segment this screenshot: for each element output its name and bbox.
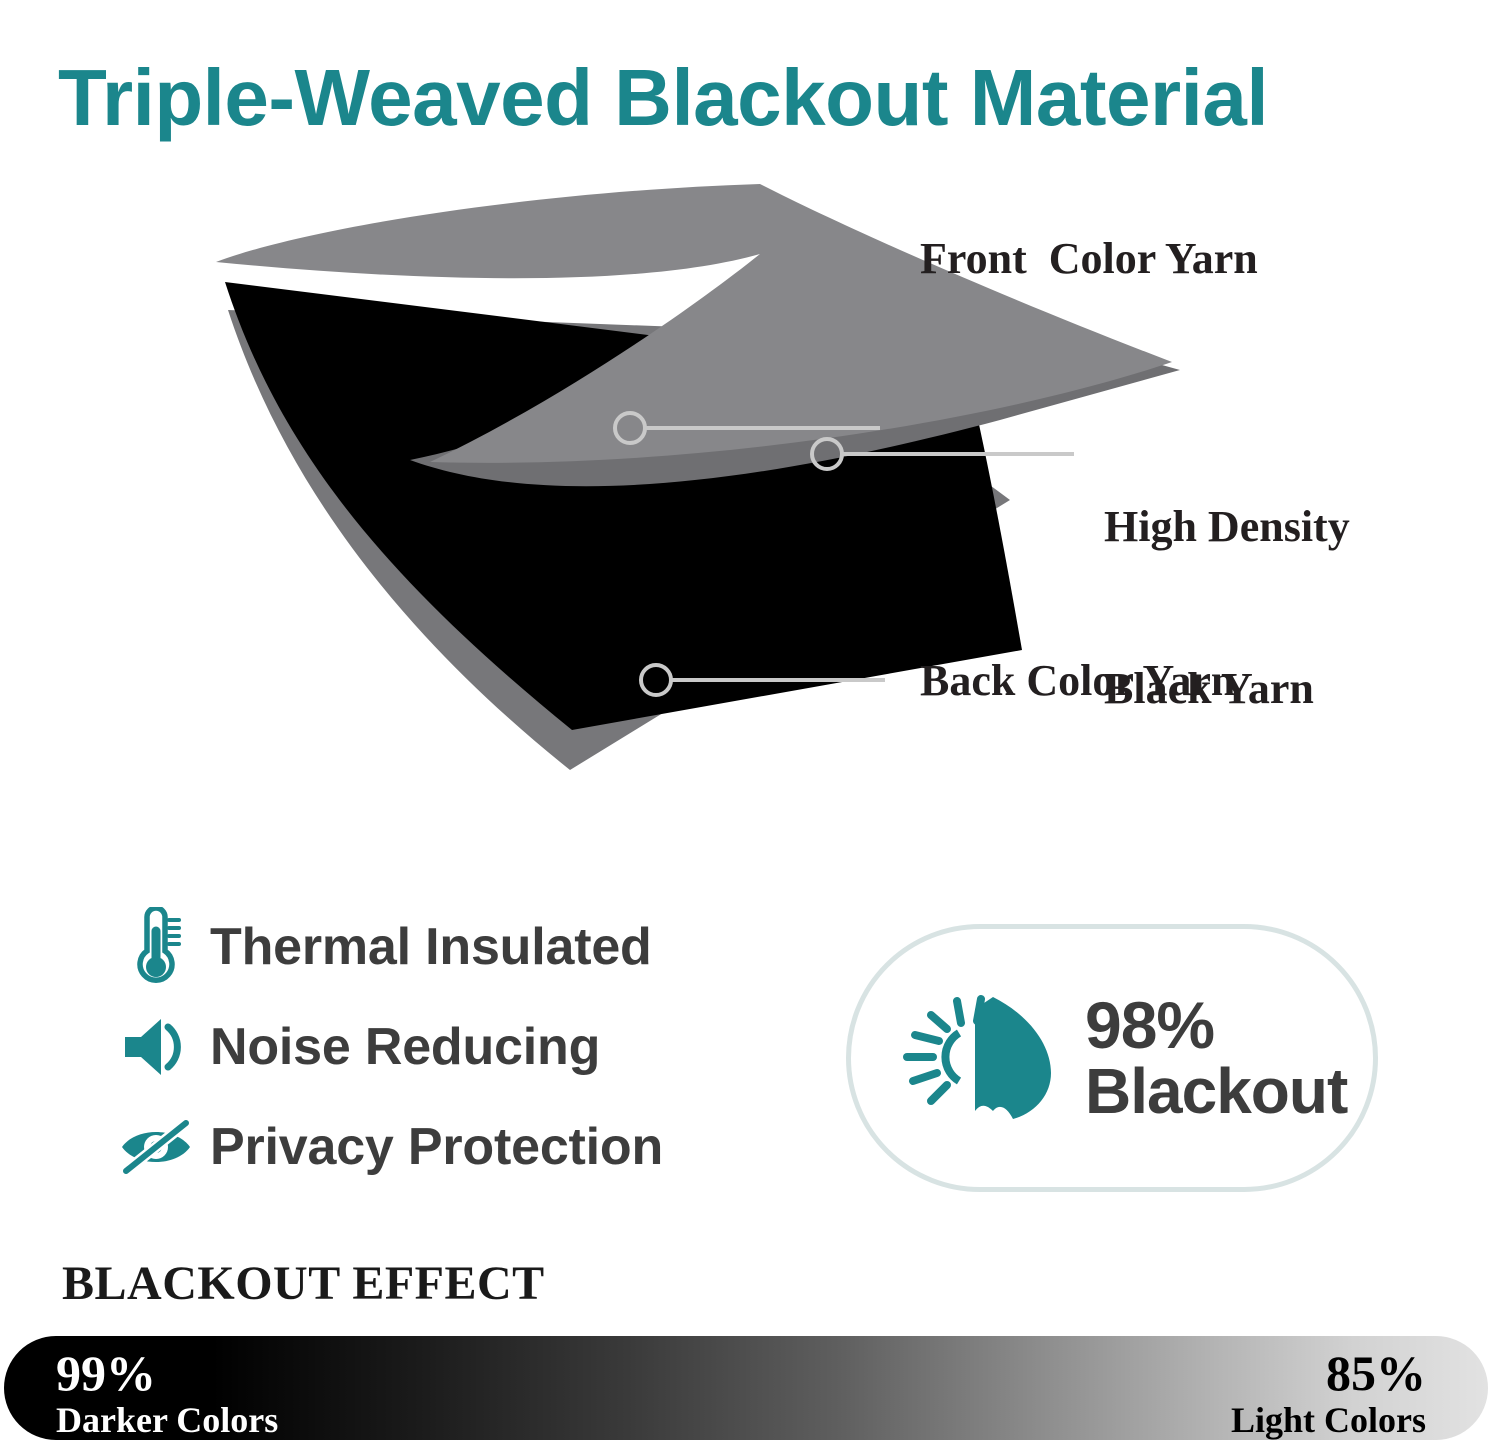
page-title: Triple-Weaved Blackout Material — [58, 50, 1478, 146]
feature-label-privacy-protection: Privacy Protection — [210, 1118, 663, 1176]
bar-description-darker: Darker Colors — [56, 1402, 278, 1438]
badge-text: 98% Blackout — [1085, 992, 1347, 1125]
eye-slash-icon — [112, 1105, 200, 1189]
feature-item-thermal-insulated: Thermal Insulated — [112, 902, 812, 992]
bar-percent-darker: 99% — [56, 1348, 278, 1398]
blackout-effect-gradient-bar: 99% Darker Colors 85% Light Colors — [4, 1336, 1488, 1440]
thermometer-icon — [112, 905, 200, 989]
bar-percent-light: 85% — [1231, 1348, 1426, 1398]
feature-label-noise-reducing: Noise Reducing — [210, 1018, 600, 1076]
sun-blocked-icon — [895, 978, 1075, 1138]
badge-word: Blackout — [1085, 1059, 1347, 1124]
label-high-density-black-yarn: High Density Black Yarn — [1104, 392, 1350, 770]
blackout-effect-heading: BLACKOUT EFFECT — [62, 1256, 545, 1312]
blackout-percentage-badge: 98% Blackout — [846, 924, 1378, 1192]
label-front-color-yarn: Front Color Yarn — [920, 232, 1258, 286]
bar-stat-light-colors: 85% Light Colors — [1231, 1348, 1426, 1438]
speaker-icon — [112, 1005, 200, 1089]
feature-item-privacy-protection: Privacy Protection — [112, 1102, 812, 1192]
bar-description-light: Light Colors — [1231, 1402, 1426, 1438]
feature-label-thermal-insulated: Thermal Insulated — [210, 918, 652, 976]
feature-list: Thermal Insulated Noise Reducing Privacy… — [112, 902, 812, 1202]
bar-stat-darker-colors: 99% Darker Colors — [56, 1348, 278, 1438]
label-back-color-yarn: Back Color Yarn — [920, 654, 1235, 708]
label-high-density-line1: High Density — [1104, 500, 1350, 554]
feature-item-noise-reducing: Noise Reducing — [112, 1002, 812, 1092]
badge-percent: 98% — [1085, 992, 1347, 1059]
